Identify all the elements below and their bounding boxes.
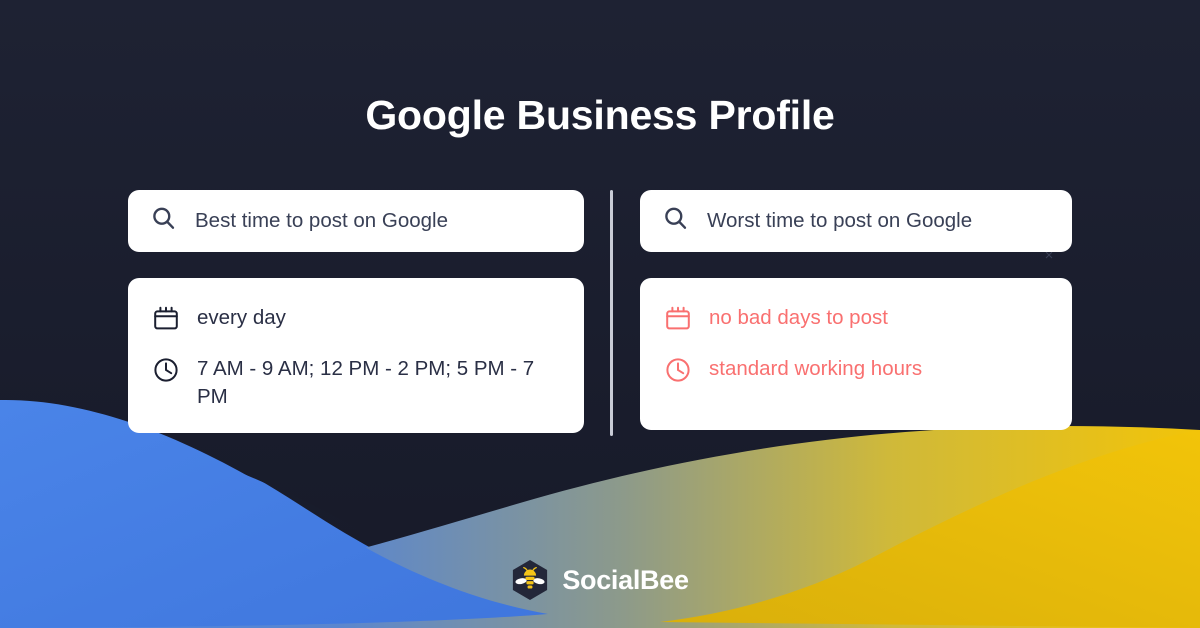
socialbee-bee-icon [511, 559, 549, 601]
search-query-text: Best time to post on Google [195, 209, 448, 233]
column-divider [610, 190, 613, 436]
calendar-icon [152, 305, 180, 333]
clock-icon [152, 356, 180, 384]
result-row-text: every day [197, 304, 286, 332]
result-card-worst-time: no bad days to post standard working hou… [640, 278, 1072, 430]
result-row: no bad days to post [664, 304, 1048, 333]
result-row-text: standard working hours [709, 355, 922, 383]
socialbee-brand-text: SocialBee [562, 565, 688, 596]
panel-worst-time: Worst time to post on Google no bad days… [640, 190, 1072, 430]
result-row: every day [152, 304, 560, 333]
search-icon [662, 205, 689, 237]
result-row: 7 AM - 9 AM; 12 PM - 2 PM; 5 PM - 7 PM [152, 355, 560, 411]
result-card-best-time: every day 7 AM - 9 AM; 12 PM - 2 PM; 5 P… [128, 278, 584, 433]
clock-icon [664, 356, 692, 384]
search-icon [150, 205, 177, 237]
panel-best-time: Best time to post on Google every day [128, 190, 584, 433]
socialbee-logo: SocialBee [0, 559, 1200, 601]
search-bar-worst-time[interactable]: Worst time to post on Google [640, 190, 1072, 252]
page-title: Google Business Profile [0, 92, 1200, 139]
calendar-icon [664, 305, 692, 333]
search-bar-best-time[interactable]: Best time to post on Google [128, 190, 584, 252]
result-row-text: no bad days to post [709, 304, 888, 332]
search-query-text: Worst time to post on Google [707, 209, 972, 233]
result-row: standard working hours [664, 355, 1048, 384]
result-row-text: 7 AM - 9 AM; 12 PM - 2 PM; 5 PM - 7 PM [197, 355, 560, 411]
